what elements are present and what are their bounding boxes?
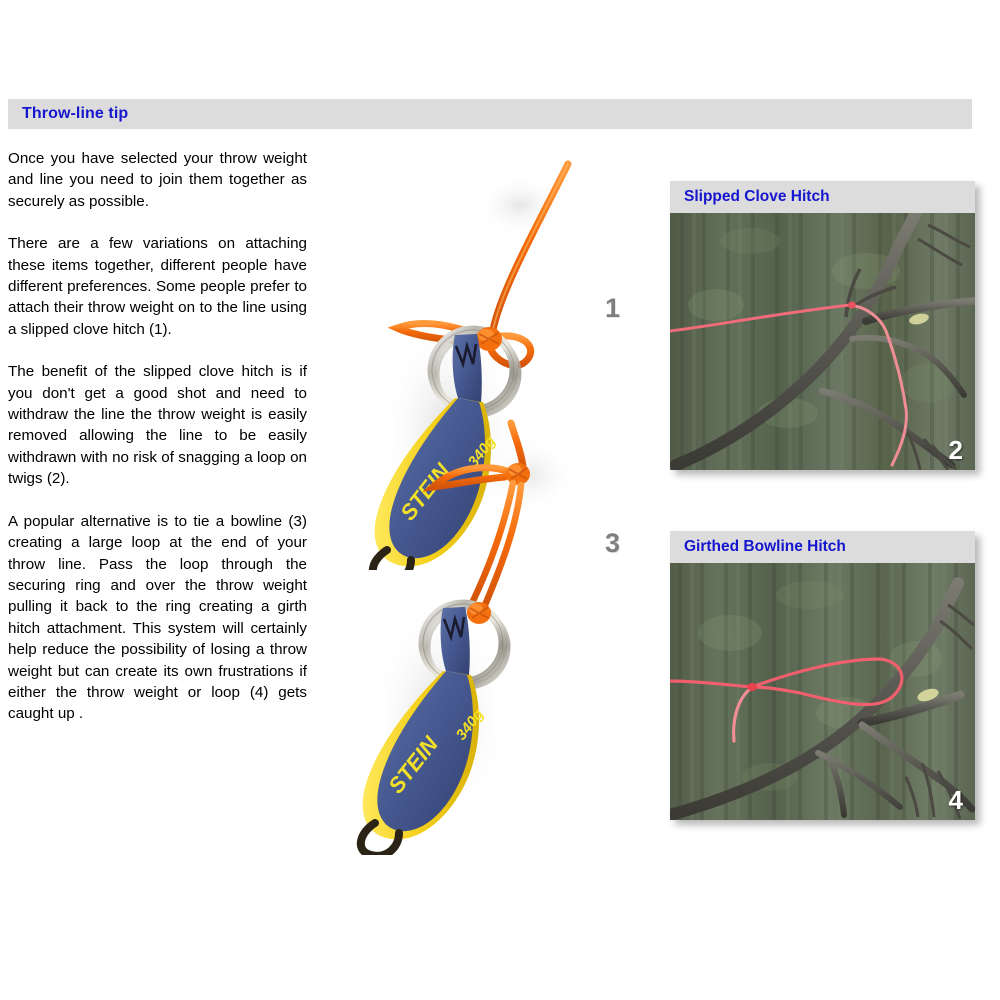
photo-number-4: 4 [949,785,963,816]
illustration-column: STEIN 340g 1 [315,130,655,850]
figure-number-1: 1 [605,293,620,324]
paragraph: Once you have selected your throw weight… [8,148,307,212]
clove-hitch-knot [476,327,502,351]
photo-girthed-bowline-hitch: 4 [670,563,975,820]
figure-throw-weight-girthed-bowline: STEIN 340g [315,415,635,860]
photo-panel-title: Slipped Clove Hitch [684,188,830,206]
photo-panel-title: Girthed Bowline Hitch [684,538,846,556]
paragraph: There are a few variations on attaching … [8,233,307,340]
section-header-bar: Throw-line tip [8,99,972,129]
photo-panel-header: Slipped Clove Hitch [670,181,975,213]
photo-panel-slipped-clove-hitch: Slipped Clove Hitch [670,181,975,470]
photo-number-2: 2 [949,435,963,466]
throw-weight-illustration-3: STEIN 340g [315,415,635,855]
article-text-column: Once you have selected your throw weight… [8,148,307,725]
hitch-knot [848,302,856,309]
photo-slipped-clove-hitch: 2 [670,213,975,470]
paragraph: A popular alternative is to tie a bowlin… [8,511,307,725]
drop-shadow [475,173,565,237]
page-title: Throw-line tip [22,105,128,123]
paragraph: The benefit of the slipped clove hitch i… [8,361,307,489]
photo-panel-header: Girthed Bowline Hitch [670,531,975,563]
tree-bark-background [670,213,975,470]
bowline-knot [747,683,757,691]
photo-panel-girthed-bowline-hitch: Girthed Bowline Hitch [670,531,975,820]
girth-hitch-knot [467,602,491,624]
figure-number-3: 3 [605,528,620,559]
